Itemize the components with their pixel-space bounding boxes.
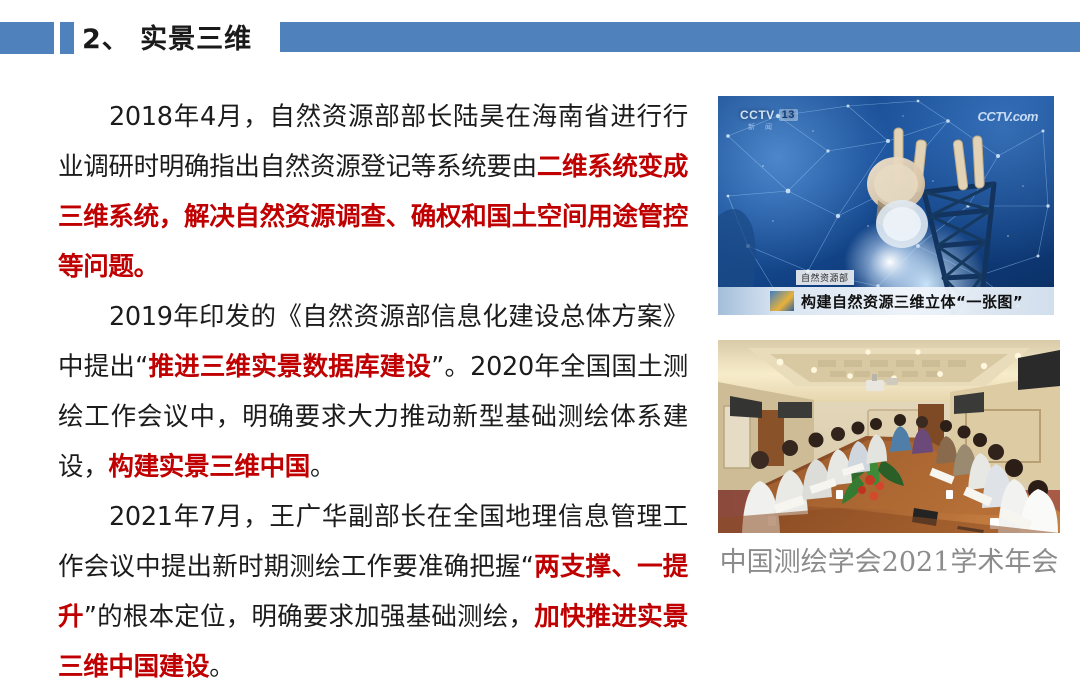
paragraph-1: 2018年4月，自然资源部部长陆昊在海南省进行行业调研时明确指出自然资源登记等系… [58, 92, 688, 292]
cctv-channel-logo: CCTV 13 [740, 108, 798, 122]
cctv-channel-subtitle: 新 闻 [748, 122, 776, 132]
conference-image-caption: 中国测绘学会2021学术年会 [706, 540, 1072, 579]
cctv-channel-number: 13 [779, 109, 798, 121]
header-accent-block-wide [0, 22, 54, 54]
news-source-tag: 自然资源部 [796, 270, 854, 285]
header-accent-bar-right [280, 22, 1080, 52]
cctv-logo-text: CCTV [740, 108, 775, 122]
conference-room-illustration [718, 340, 1060, 533]
header-accent-block-narrow [60, 22, 74, 54]
slide-header: 2、 实景三维 [0, 0, 1080, 70]
news-badge-icon [770, 291, 794, 311]
cctv-news-image: CCTV 13 新 闻 CCTV.com 自然资源部 构建自然资源三维立体“一张… [718, 96, 1054, 315]
paragraph-2: 2019年印发的《自然资源部信息化建设总体方案》中提出“推进三维实景数据库建设”… [58, 292, 688, 492]
news-headline-strip: 构建自然资源三维立体“一张图” [718, 287, 1054, 315]
cctv-com-watermark: CCTV.com [977, 109, 1038, 124]
highlighted-run: 推进三维实景数据库建设 [148, 352, 431, 382]
highlighted-run: 构建实景三维中国 [108, 452, 310, 482]
page-title: 2、 实景三维 [82, 17, 252, 56]
body-text-column: 2018年4月，自然资源部部长陆昊在海南省进行行业调研时明确指出自然资源登记等系… [58, 92, 688, 692]
normal-run: 。 [209, 652, 234, 682]
paragraph-3: 2021年7月，王广华副部长在全国地理信息管理工作会议中提出新时期测绘工作要准确… [58, 492, 688, 692]
news-headline-text: 构建自然资源三维立体“一张图” [801, 291, 1023, 312]
normal-run: 。 [310, 452, 335, 482]
conference-room-image [718, 340, 1060, 533]
